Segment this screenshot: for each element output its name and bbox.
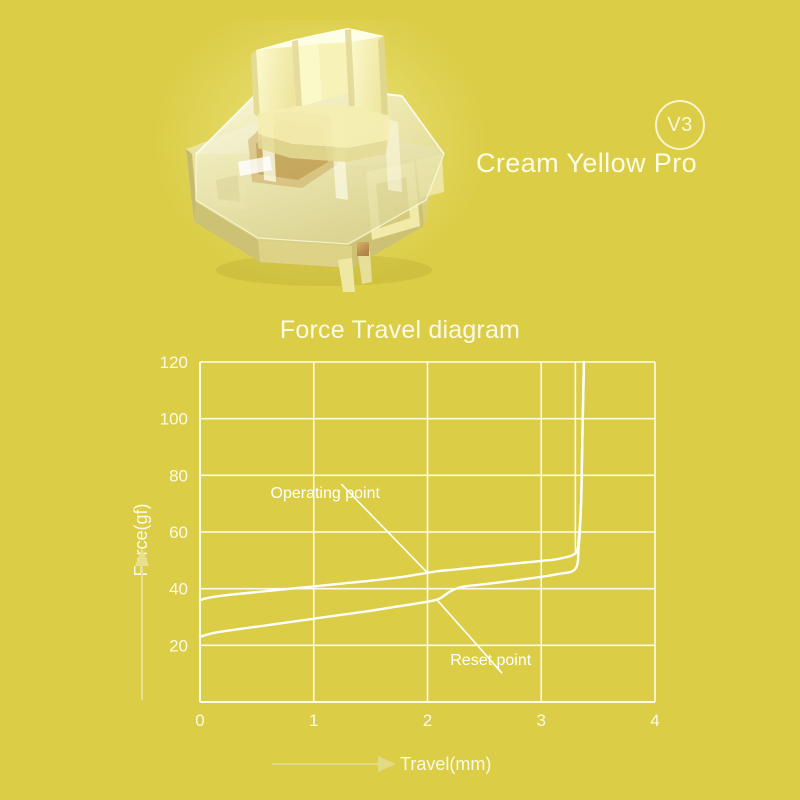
curve-release [200, 362, 584, 637]
x-axis-tick-label: 3 [537, 711, 546, 730]
x-axis-tick-label: 2 [423, 711, 432, 730]
chart-series [200, 362, 584, 637]
x-axis-caption: Travel(mm) [400, 754, 491, 774]
y-axis-tick-label: 80 [169, 466, 188, 485]
chart-gridlines [200, 362, 655, 702]
annotation-label: Operating point [271, 485, 381, 502]
y-axis-tick-label: 20 [169, 636, 188, 655]
x-axis-tick-label: 1 [309, 711, 318, 730]
x-axis-tick-label: 0 [195, 711, 204, 730]
force-travel-chart: Operating pointReset point 2040608010012… [0, 0, 800, 800]
chart-tick-labels: 2040608010012001234 [160, 353, 660, 730]
y-axis-tick-label: 120 [160, 353, 188, 372]
x-axis-arrow-head [378, 756, 396, 772]
curve-press [200, 362, 584, 600]
x-axis-tick-label: 4 [650, 711, 659, 730]
y-axis-tick-label: 100 [160, 410, 188, 429]
y-axis-tick-label: 40 [169, 580, 188, 599]
annotation-leader-line [341, 484, 427, 573]
y-axis-tick-label: 60 [169, 523, 188, 542]
